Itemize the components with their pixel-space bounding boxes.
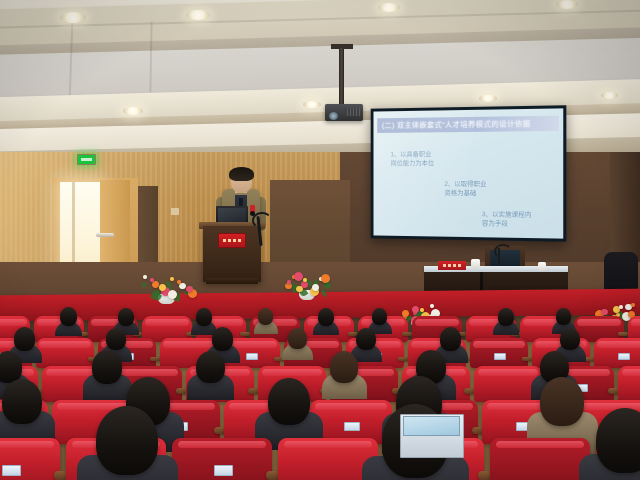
- seat-headrest: [478, 369, 538, 376]
- ceiling-light-icon: [601, 92, 618, 99]
- audience-head: [196, 308, 212, 326]
- screen-glare: [373, 108, 476, 238]
- projection-screen: (二) 双主体嵌套式"人才培养模式的设计依据 1、以具备职业 岗位能力为本位 2…: [373, 108, 563, 238]
- door-handle[interactable]: [96, 233, 114, 237]
- flower-leaf: [142, 283, 146, 287]
- audience-head: [556, 308, 571, 325]
- ceiling-light-icon: [378, 3, 400, 12]
- table-microphone-arm: [494, 244, 512, 259]
- seat-headrest: [315, 403, 387, 410]
- seat-headrest: [622, 369, 640, 376]
- flower-petal: [321, 274, 330, 283]
- flower-leaf: [320, 290, 328, 298]
- seat-number-tag: [2, 465, 21, 476]
- projector-lens-icon: [329, 112, 338, 120]
- flower-petal: [152, 281, 159, 288]
- flower-petal: [294, 272, 303, 281]
- audience-head: [92, 350, 122, 384]
- projector-pole: [339, 48, 344, 110]
- seat-headrest: [118, 369, 178, 376]
- podium-sign: [218, 233, 246, 248]
- audience-head: [196, 351, 225, 383]
- speaker-glasses-icon: [234, 177, 249, 182]
- head-table-name-card: [438, 261, 466, 270]
- flower-petal: [168, 290, 177, 299]
- seat-headrest: [39, 341, 90, 348]
- audience-head: [560, 328, 580, 350]
- audience-head: [0, 351, 22, 382]
- auditorium-seating: [0, 300, 640, 480]
- seat-row: [0, 426, 640, 480]
- flower-petal: [186, 286, 193, 293]
- audience-laptop-screen: [403, 416, 460, 436]
- audience-head: [596, 408, 640, 473]
- audience-head: [540, 377, 584, 426]
- ceiling-light-icon: [186, 10, 210, 20]
- seat-headrest: [473, 341, 524, 348]
- audience-head: [60, 307, 77, 326]
- podium-laptop-screen: [218, 208, 246, 222]
- projection-screen-frame: (二) 双主体嵌套式"人才培养模式的设计依据 1、以具备职业 岗位能力为本位 2…: [371, 105, 567, 242]
- audience-head: [118, 308, 134, 326]
- audience-head: [330, 351, 358, 382]
- flower-petal: [296, 286, 303, 293]
- podium-microphone-arm: [252, 212, 272, 229]
- flower-petal: [287, 280, 291, 284]
- audience-head: [268, 378, 310, 425]
- seat-headrest: [178, 441, 266, 448]
- seat-headrest: [577, 319, 621, 326]
- seat-headrest: [597, 341, 640, 348]
- wall-outlet: [171, 208, 179, 215]
- seat-headrest: [0, 441, 54, 448]
- audience-head: [498, 308, 514, 326]
- audience-head: [2, 379, 42, 424]
- flower-petal: [303, 278, 307, 282]
- ceiling-light-icon: [303, 101, 321, 108]
- seat-headrest: [631, 319, 640, 326]
- ceiling-light-icon: [556, 0, 578, 9]
- slide-bullet-3: 3、以实施课程内 容为手段: [482, 210, 532, 229]
- ceiling-light-icon: [60, 12, 86, 23]
- flower-petal: [143, 275, 147, 279]
- audience-head: [372, 308, 387, 325]
- flower-petal: [312, 284, 319, 291]
- flower-petal: [170, 277, 174, 281]
- auditorium-photo: (二) 双主体嵌套式"人才培养模式的设计依据 1、以具备职业 岗位能力为本位 2…: [0, 0, 640, 480]
- seat-headrest: [163, 341, 214, 348]
- flower-arrangement: [282, 270, 334, 300]
- seat-headrest: [0, 319, 27, 326]
- podium-microphone-head: [250, 211, 255, 216]
- projector-vent: [345, 108, 360, 116]
- ceiling-light-icon: [479, 95, 497, 102]
- audience-head: [212, 327, 233, 351]
- flower-petal: [177, 280, 181, 284]
- seat-headrest: [496, 441, 584, 448]
- audience-head: [14, 327, 35, 351]
- audience-head: [318, 308, 334, 326]
- seat-headrest: [145, 319, 189, 326]
- audience-head: [440, 327, 461, 351]
- audience-head: [96, 406, 158, 475]
- seat-headrest: [415, 319, 459, 326]
- seat-headrest: [262, 369, 322, 376]
- seat-number-tag: [214, 465, 233, 476]
- flower-petal: [150, 278, 154, 282]
- ceiling-light-icon: [123, 107, 143, 115]
- flower-petal: [159, 284, 166, 291]
- podium-base: [206, 278, 258, 284]
- exit-sign-icon: [77, 154, 96, 165]
- audience-head: [258, 308, 273, 325]
- teacup: [471, 259, 480, 269]
- audience-head: [106, 328, 126, 350]
- teacup: [538, 262, 546, 271]
- audience-head: [356, 328, 376, 350]
- seat-headrest: [284, 441, 372, 448]
- audience-head: [288, 328, 307, 349]
- auditorium-seat[interactable]: [490, 438, 590, 480]
- table-microphone-stem: [498, 248, 500, 268]
